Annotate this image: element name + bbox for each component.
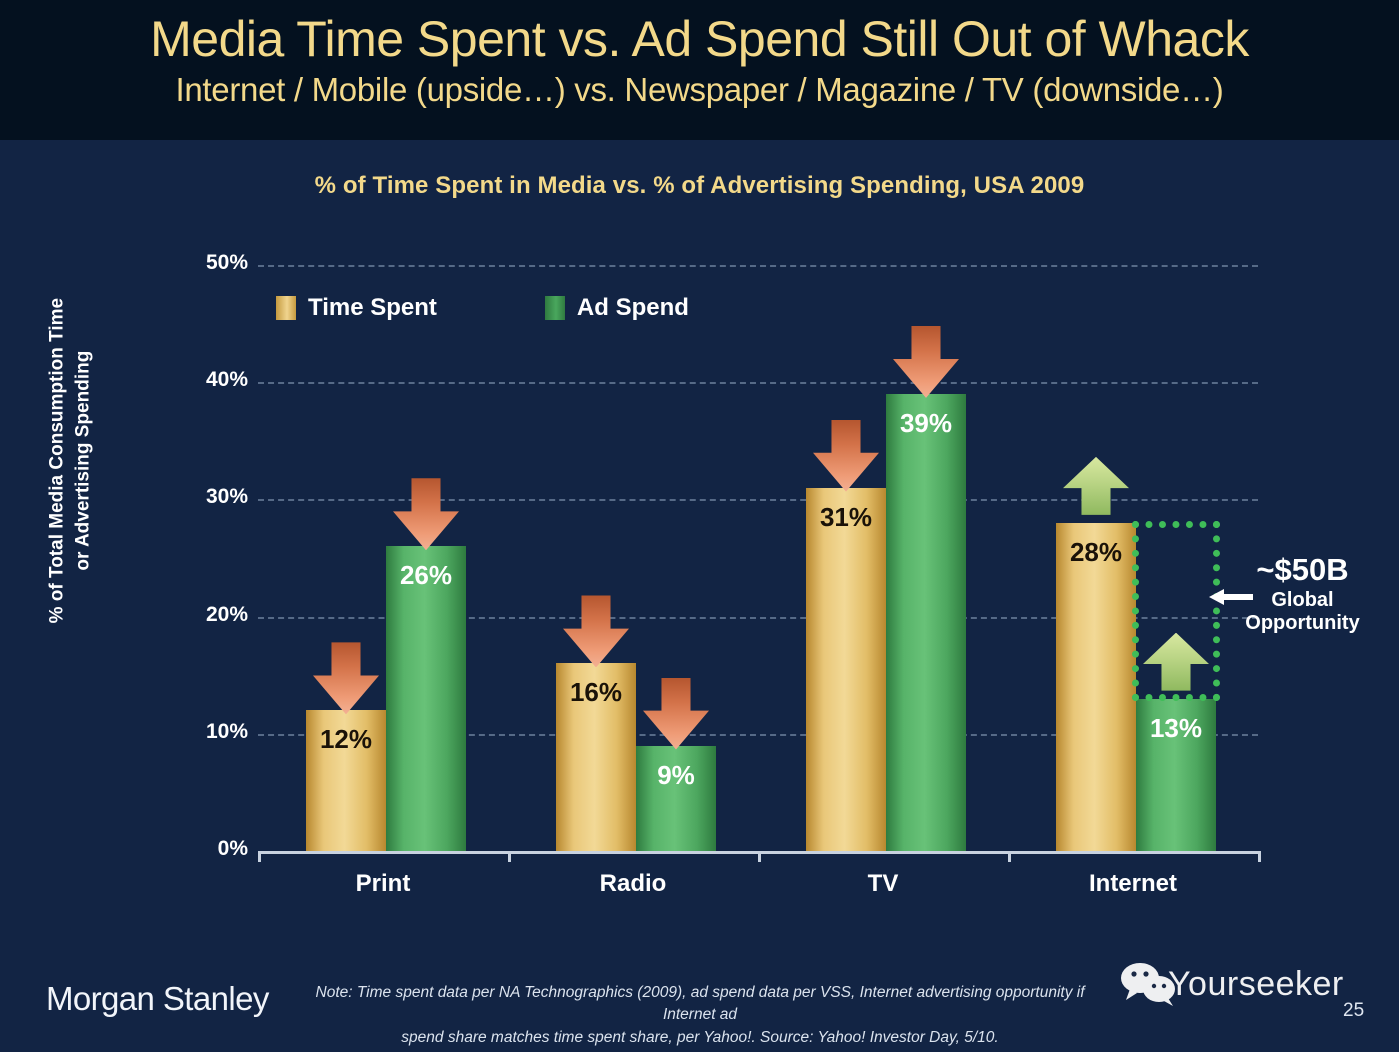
bar-group-print: 12%26% — [306, 265, 466, 851]
arrow-up-internet-time-spent — [1063, 457, 1129, 515]
bar-value-tv-time-spent: 31% — [806, 502, 886, 533]
bar-internet-time-spent[interactable]: 28% — [1056, 523, 1136, 851]
bar-value-radio-time-spent: 16% — [556, 677, 636, 708]
bar-value-radio-ad-spend: 9% — [636, 760, 716, 791]
arrow-down-tv-ad-spend — [893, 326, 959, 398]
bar-value-tv-ad-spend: 39% — [886, 408, 966, 439]
x-axis-tick-3 — [1008, 851, 1011, 862]
footnote: Note: Time spent data per NA Technograph… — [300, 982, 1100, 1049]
bar-radio-time-spent[interactable]: 16% — [556, 663, 636, 851]
wechat-icon — [1120, 962, 1178, 1006]
callout-line2: Opportunity — [1210, 612, 1395, 636]
y-tick-20%: 20% — [128, 603, 248, 627]
x-label-print: Print — [283, 870, 483, 898]
x-label-radio: Radio — [533, 870, 733, 898]
bar-value-print-time-spent: 12% — [306, 724, 386, 755]
chart-title: % of Time Spent in Media vs. % of Advert… — [0, 172, 1399, 200]
footnote-line1: Note: Time spent data per NA Technograph… — [316, 984, 1085, 1023]
arrow-down-print-ad-spend — [393, 478, 459, 550]
y-axis-title-line1: % of Total Media Consumption Time — [44, 181, 70, 741]
watermark: Yourseeker — [1120, 962, 1344, 1006]
footnote-line2: spend share matches time spent share, pe… — [300, 1027, 1100, 1049]
bar-value-internet-ad-spend: 13% — [1136, 713, 1216, 744]
bar-tv-ad-spend[interactable]: 39% — [886, 394, 966, 851]
opportunity-callout: ~$50B Global Opportunity — [1210, 552, 1395, 636]
arrow-down-radio-ad-spend — [643, 678, 709, 750]
bar-print-time-spent[interactable]: 12% — [306, 710, 386, 851]
bar-value-internet-time-spent: 28% — [1056, 537, 1136, 568]
legend-swatch-time-spent — [276, 296, 296, 320]
opportunity-box — [1132, 521, 1220, 701]
y-tick-30%: 30% — [128, 485, 248, 509]
slide-header: Media Time Spent vs. Ad Spend Still Out … — [0, 0, 1399, 140]
x-axis-tick-2 — [758, 851, 761, 862]
y-axis-title: % of Total Media Consumption Time or Adv… — [44, 181, 95, 741]
bar-radio-ad-spend[interactable]: 9% — [636, 746, 716, 851]
morgan-stanley-logo: Morgan Stanley — [46, 980, 269, 1018]
y-axis-title-line2: or Advertising Spending — [70, 181, 96, 741]
x-axis-tick-1 — [508, 851, 511, 862]
bar-tv-time-spent[interactable]: 31% — [806, 488, 886, 851]
page-number: 25 — [1343, 1000, 1364, 1022]
x-axis-tick-edge-1 — [1258, 851, 1261, 862]
bar-print-ad-spend[interactable]: 26% — [386, 546, 466, 851]
arrow-down-tv-time-spent — [813, 420, 879, 492]
bar-group-tv: 31%39% — [806, 265, 966, 851]
callout-line1: Global — [1210, 589, 1395, 613]
slide-title: Media Time Spent vs. Ad Spend Still Out … — [0, 0, 1399, 66]
arrow-down-print-time-spent — [313, 642, 379, 714]
y-tick-0%: 0% — [128, 837, 248, 861]
bar-internet-ad-spend[interactable]: 13% — [1136, 699, 1216, 851]
slide-subtitle: Internet / Mobile (upside…) vs. Newspape… — [0, 66, 1399, 108]
x-axis-tick-edge-0 — [258, 851, 261, 862]
y-tick-10%: 10% — [128, 720, 248, 744]
y-tick-40%: 40% — [128, 368, 248, 392]
x-label-tv: TV — [783, 870, 983, 898]
bar-value-print-ad-spend: 26% — [386, 560, 466, 591]
watermark-text: Yourseeker — [1168, 965, 1344, 1004]
x-label-internet: Internet — [1033, 870, 1233, 898]
callout-amount: ~$50B — [1210, 552, 1395, 589]
y-tick-50%: 50% — [128, 251, 248, 275]
arrow-down-radio-time-spent — [563, 595, 629, 667]
bar-group-radio: 16%9% — [556, 265, 716, 851]
